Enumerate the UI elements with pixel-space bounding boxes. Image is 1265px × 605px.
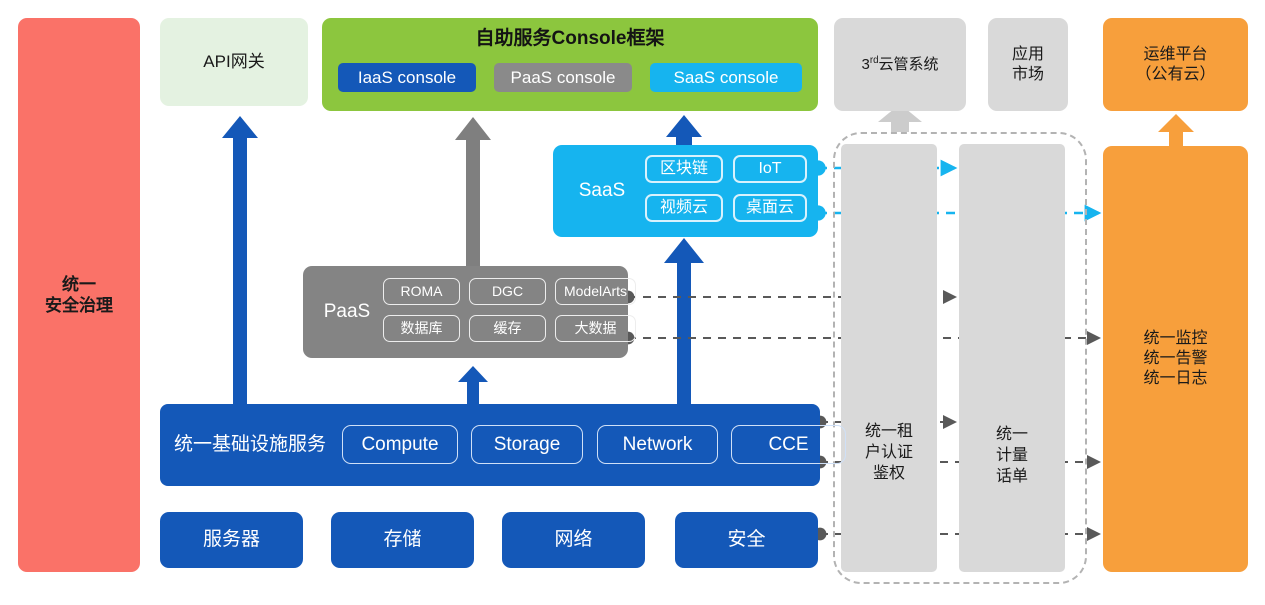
saas-item-blockchain[interactable]: 区块链 — [645, 155, 723, 183]
ops-right-line-1: 统一监控 — [1143, 329, 1207, 349]
resource-network[interactable]: 网络 — [502, 512, 645, 568]
arrow-infra-to-saas — [664, 238, 704, 404]
ops-platform-public-cloud[interactable]: 运维平台 （公有云） — [1103, 18, 1248, 111]
column-unified-metering[interactable]: 统一 计量 话单 — [959, 144, 1065, 572]
saas-layer-title: SaaS — [563, 179, 641, 203]
architecture-diagram: 统一租 户认证 鉴权 统一 计量 话单 统一 安全治理 API网关 自助服务Co… — [0, 0, 1265, 605]
paas-item-cache[interactable]: 缓存 — [469, 315, 546, 342]
ops-public-label: 运维平台 （公有云） — [1135, 45, 1215, 85]
security-line-2: 安全治理 — [45, 295, 113, 316]
saas-item-desktop-cloud[interactable]: 桌面云 — [733, 194, 807, 222]
saas-console-chip[interactable]: SaaS console — [650, 63, 802, 92]
security-line-1: 统一 — [45, 274, 113, 295]
infrastructure-title: 统一基础设施服务 — [174, 433, 326, 457]
app-market-box[interactable]: 应用 市场 — [988, 18, 1068, 111]
paas-console-chip[interactable]: PaaS console — [494, 63, 632, 92]
third-cloud-label: 3rd云管系统 — [861, 55, 938, 75]
paas-item-bigdata[interactable]: 大数据 — [555, 315, 636, 342]
self-service-console-frame[interactable]: 自助服务Console框架 IaaS console PaaS console … — [322, 18, 818, 111]
api-gateway-label: API网关 — [203, 51, 264, 72]
arrow-infra-to-api-gateway — [222, 116, 258, 404]
resource-security[interactable]: 安全 — [675, 512, 818, 568]
column-unified-tenant-auth[interactable]: 统一租 户认证 鉴权 — [841, 144, 937, 572]
third-cloud-prefix: 3 — [861, 56, 869, 73]
saas-layer[interactable]: SaaS 区块链 IoT 视频云 桌面云 — [553, 145, 818, 237]
third-cloud-sup: rd — [870, 55, 879, 66]
column-metering-label: 统一 计量 话单 — [959, 425, 1065, 487]
arrow-ops-right-to-ops-public — [1158, 114, 1194, 146]
paas-item-database[interactable]: 数据库 — [383, 315, 460, 342]
auth-line-1: 统一租 — [841, 422, 937, 443]
security-governance-label: 统一 安全治理 — [45, 274, 113, 317]
ops-right-line-3: 统一日志 — [1143, 369, 1207, 389]
infra-item-cce[interactable]: CCE — [731, 425, 846, 464]
unified-monitoring-panel[interactable]: 统一监控 统一告警 统一日志 — [1103, 146, 1248, 572]
ops-right-line-2: 统一告警 — [1143, 349, 1207, 369]
metering-line-1: 统一 — [959, 425, 1065, 446]
ops-public-line-2: （公有云） — [1135, 65, 1215, 85]
paas-layer-title: PaaS — [311, 300, 383, 324]
unified-security-governance[interactable]: 统一 安全治理 — [18, 18, 140, 572]
paas-item-roma[interactable]: ROMA — [383, 278, 460, 305]
unified-infrastructure-services[interactable]: 统一基础设施服务 Compute Storage Network CCE — [160, 404, 820, 486]
third-party-cloud-management[interactable]: 3rd云管系统 — [834, 18, 966, 111]
app-market-line-2: 市场 — [1012, 65, 1044, 85]
app-market-line-1: 应用 — [1012, 45, 1044, 65]
metering-line-3: 话单 — [959, 467, 1065, 488]
iaas-console-chip[interactable]: IaaS console — [338, 63, 476, 92]
paas-item-dgc[interactable]: DGC — [469, 278, 546, 305]
ops-public-line-1: 运维平台 — [1135, 45, 1215, 65]
resource-storage[interactable]: 存储 — [331, 512, 474, 568]
column-auth-label: 统一租 户认证 鉴权 — [841, 422, 937, 484]
auth-line-3: 鉴权 — [841, 464, 937, 485]
arrow-saas-to-console — [666, 115, 702, 146]
metering-line-2: 计量 — [959, 446, 1065, 467]
infra-item-compute[interactable]: Compute — [342, 425, 458, 464]
infra-item-network[interactable]: Network — [597, 425, 718, 464]
auth-line-2: 户认证 — [841, 443, 937, 464]
paas-item-modelarts[interactable]: ModelArts — [555, 278, 636, 305]
arrow-infra-to-paas — [458, 366, 488, 404]
api-gateway-box[interactable]: API网关 — [160, 18, 308, 106]
third-cloud-rest: 云管系统 — [879, 56, 939, 73]
arrow-paas-to-console — [455, 117, 491, 266]
ops-right-label: 统一监控 统一告警 统一日志 — [1143, 329, 1207, 389]
console-frame-title: 自助服务Console框架 — [322, 27, 818, 51]
saas-item-video-cloud[interactable]: 视频云 — [645, 194, 723, 222]
app-market-label: 应用 市场 — [1012, 45, 1044, 85]
paas-layer[interactable]: PaaS ROMA DGC ModelArts 数据库 缓存 大数据 — [303, 266, 628, 358]
saas-item-iot[interactable]: IoT — [733, 155, 807, 183]
resource-server[interactable]: 服务器 — [160, 512, 303, 568]
infra-item-storage[interactable]: Storage — [471, 425, 583, 464]
